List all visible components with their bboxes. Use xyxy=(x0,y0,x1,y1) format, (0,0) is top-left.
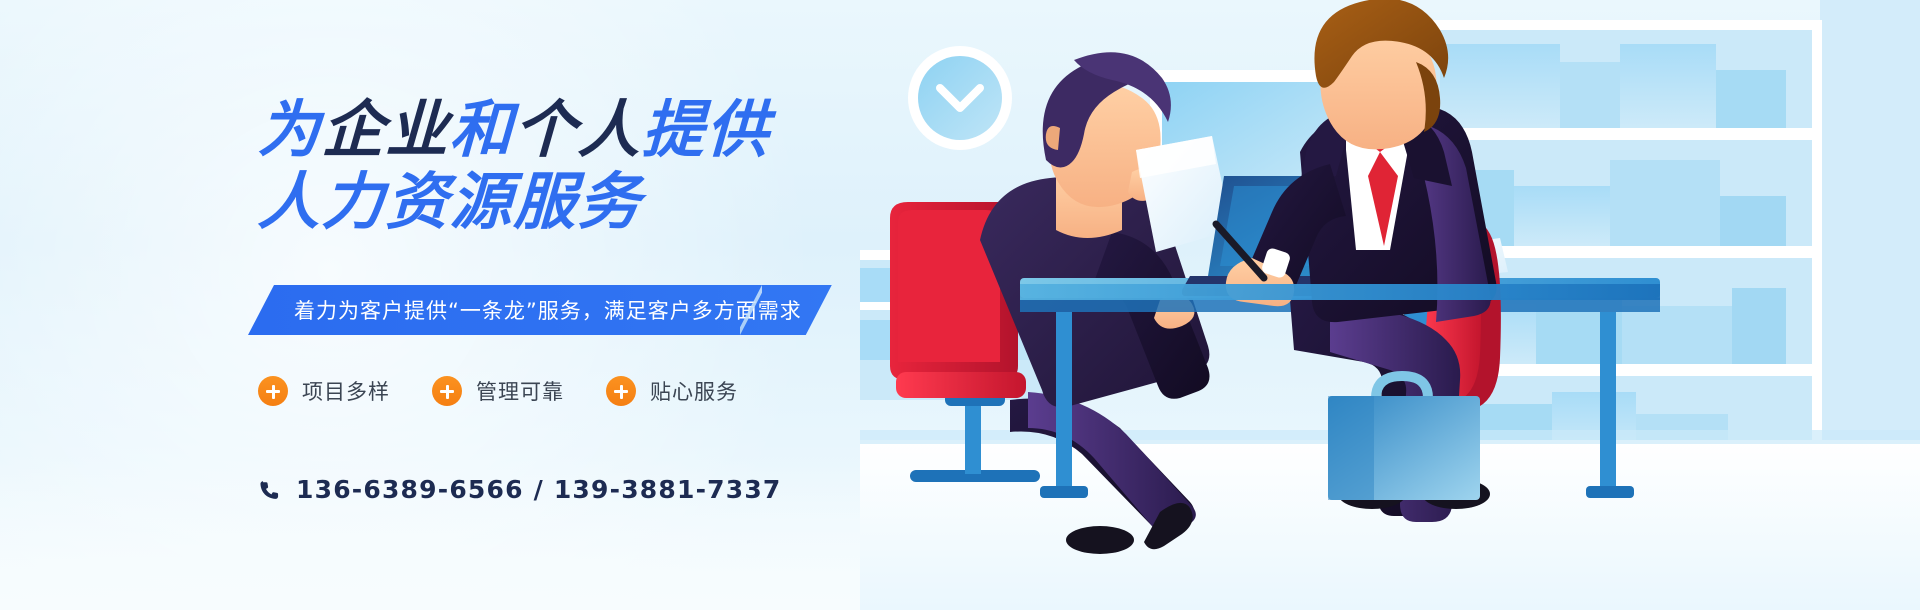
feature-list: 项目多样管理可靠贴心服务 xyxy=(258,376,738,406)
subtitle-text: 着力为客户提供“一条龙”服务，满足客户多方面需求 xyxy=(294,295,802,325)
feature-item: 贴心服务 xyxy=(606,376,738,406)
contact-phone[interactable]: 136-6389-6566 / 139-3881-7337 xyxy=(258,475,782,504)
headline-line-2: 人力资源服务 xyxy=(257,166,960,238)
headline-line-1: 为企业和个人提供 xyxy=(257,94,960,166)
hr-services-hero-banner: 为企业和个人提供 人力资源服务 着力为客户提供“一条龙”服务，满足客户多方面需求… xyxy=(0,0,1920,610)
feature-item: 项目多样 xyxy=(258,376,390,406)
banner-copy: 为企业和个人提供 人力资源服务 着力为客户提供“一条龙”服务，满足客户多方面需求… xyxy=(0,0,1000,610)
headline-segment: 企业 xyxy=(321,93,452,166)
headline-segment: 为 xyxy=(257,93,324,166)
feature-item: 管理可靠 xyxy=(432,376,564,406)
subtitle-ribbon: 着力为客户提供“一条龙”服务，满足客户多方面需求 xyxy=(248,285,832,335)
page-title: 为企业和个人提供 人力资源服务 xyxy=(258,94,958,238)
headline-segment: 个人 xyxy=(513,93,644,166)
plus-icon xyxy=(606,376,636,406)
office-consultation-illustration xyxy=(860,0,1920,610)
headline-segment: 提供 xyxy=(641,93,772,166)
feature-label: 项目多样 xyxy=(302,376,390,406)
headline-segment: 和 xyxy=(449,93,516,166)
plus-icon xyxy=(258,376,288,406)
plus-icon xyxy=(432,376,462,406)
headline-segment: 人力资源服务 xyxy=(257,165,644,238)
feature-label: 贴心服务 xyxy=(650,376,738,406)
phone-handset-icon xyxy=(258,478,280,502)
phone-number-text: 136-6389-6566 / 139-3881-7337 xyxy=(296,475,782,504)
feature-label: 管理可靠 xyxy=(476,376,564,406)
